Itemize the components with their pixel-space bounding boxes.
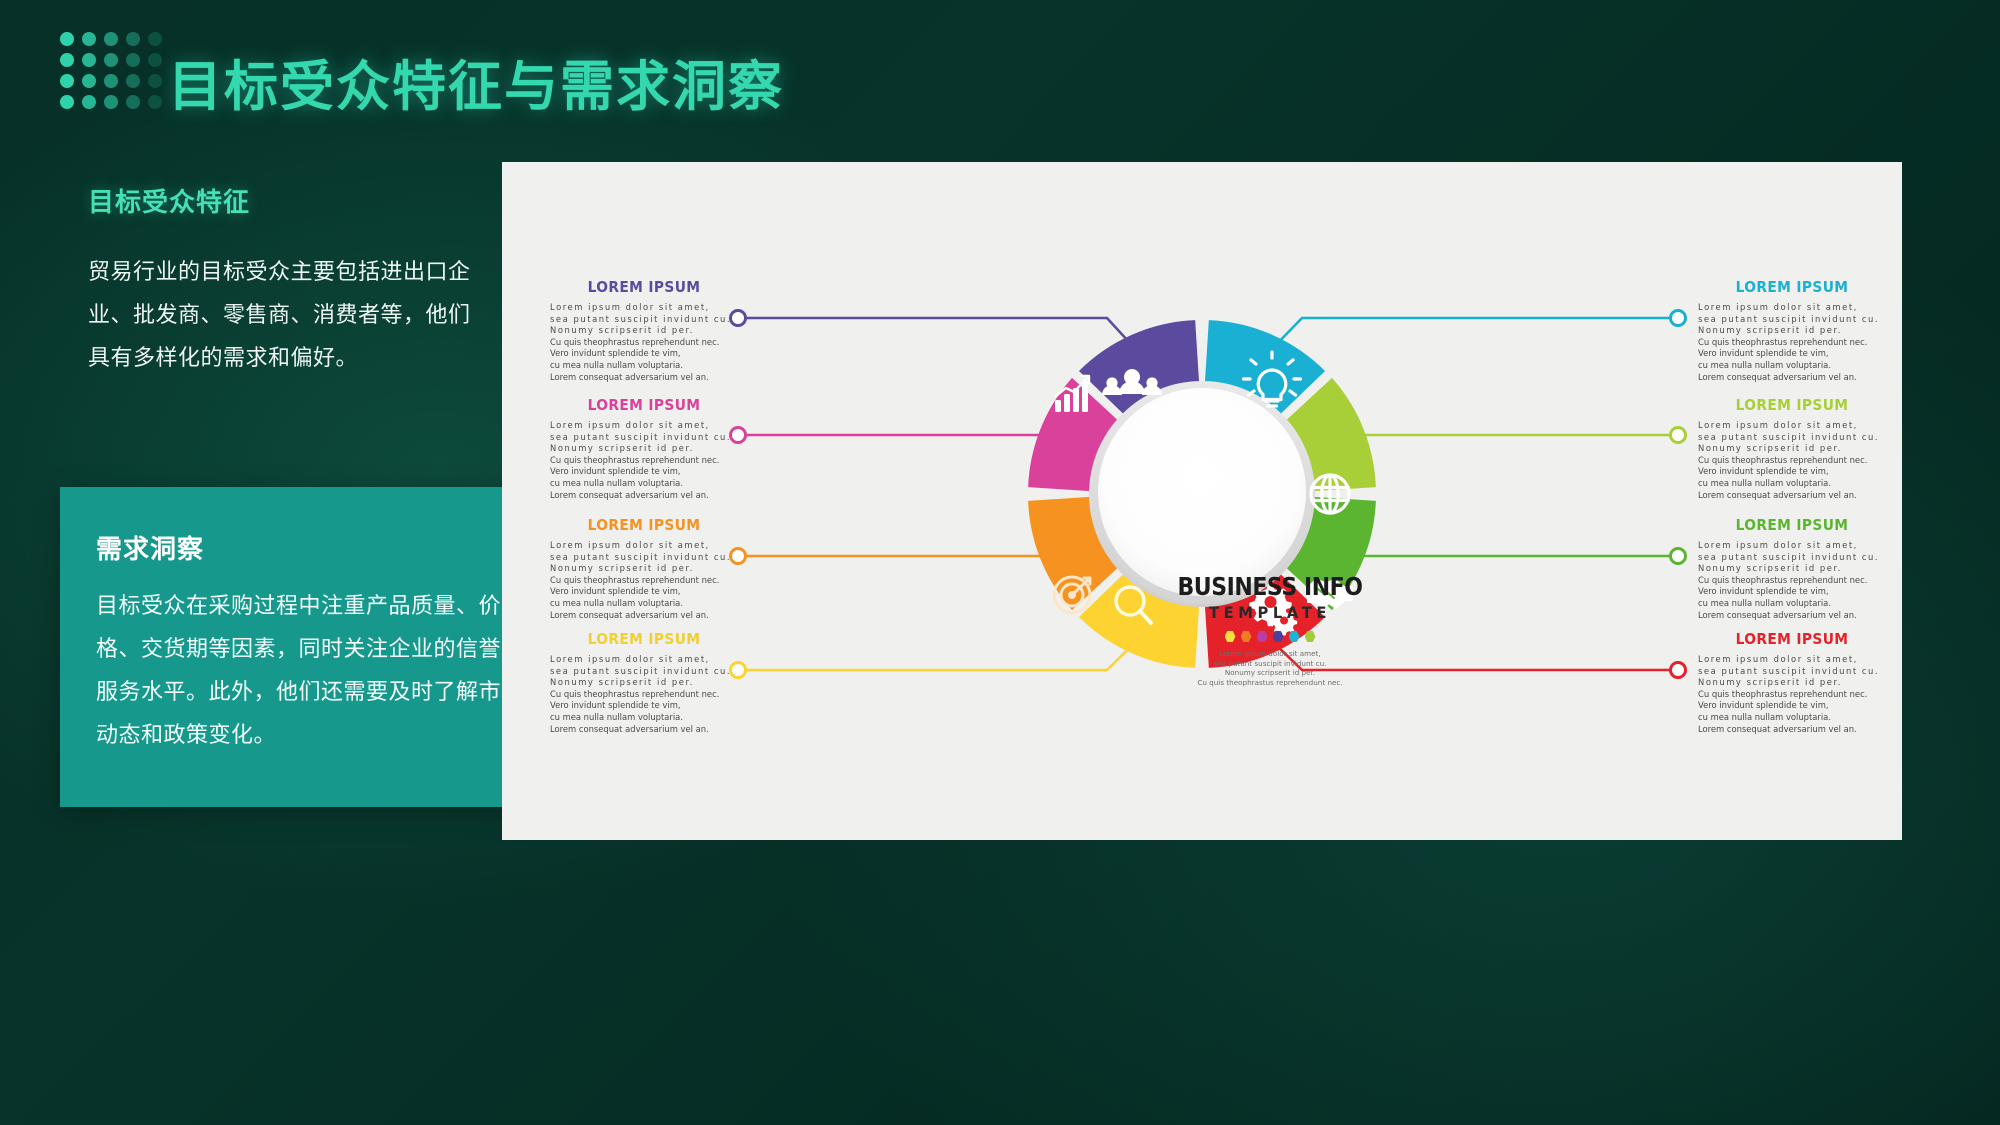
lorem-line: cu mea nulla nullam voluptaria.: [1698, 598, 1886, 610]
lorem-line: Lorem consequat adversarium vel an.: [550, 610, 738, 622]
lorem-line: Lorem consequat adversarium vel an.: [1698, 610, 1886, 622]
lorem-line: Cu quis theophrastus reprehendunt nec.: [1698, 689, 1886, 701]
label-gears: LOREM IPSUM Lorem ipsum dolor sit amet,s…: [1698, 630, 1886, 735]
label-body-globe: Lorem ipsum dolor sit amet,sea putant su…: [1698, 420, 1886, 501]
center-disc: [1098, 388, 1306, 596]
lorem-line: Lorem consequat adversarium vel an.: [1698, 490, 1886, 502]
lorem-line: Cu quis theophrastus reprehendunt nec.: [550, 455, 738, 467]
lorem-line: Lorem ipsum dolor sit amet,: [1698, 420, 1886, 432]
label-body-chart: Lorem ipsum dolor sit amet,sea putant su…: [550, 420, 738, 501]
label-body-bulb: Lorem ipsum dolor sit amet,sea putant su…: [1698, 302, 1886, 383]
lorem-line: Lorem ipsum dolor sit amet,: [550, 654, 738, 666]
label-body-target: Lorem ipsum dolor sit amet,sea putant su…: [550, 540, 738, 621]
label-title-people: LOREM IPSUM: [558, 278, 731, 296]
lorem-line: Lorem consequat adversarium vel an.: [550, 372, 738, 384]
label-search: LOREM IPSUM Lorem ipsum dolor sit amet,s…: [550, 630, 738, 735]
lorem-line: Nonumy scripserit id per.: [1698, 443, 1886, 455]
page-title: 目标受众特征与需求洞察: [168, 42, 784, 121]
lorem-line: Vero invidunt splendide te vim,: [550, 586, 738, 598]
lorem-line: Cu quis theophrastus reprehendunt nec.: [550, 337, 738, 349]
lorem-line: Nonumy scripserit id per.: [1698, 325, 1886, 337]
connector-node-globe: [1671, 428, 1686, 443]
lorem-line: cu mea nulla nullam voluptaria.: [550, 478, 738, 490]
lorem-line: sea putant suscipit invidunt cu.: [1698, 666, 1886, 678]
label-bulb: LOREM IPSUM Lorem ipsum dolor sit amet,s…: [1698, 278, 1886, 383]
lorem-line: Nonumy scripserit id per.: [550, 677, 738, 689]
infographic-panel: LOREM IPSUM Lorem ipsum dolor sit amet,s…: [502, 162, 1902, 840]
section-body-audience-traits: 贸易行业的目标受众主要包括进出口企业、批发商、零售商、消费者等，他们具有多样化的…: [88, 251, 488, 380]
lorem-line: Cu quis theophrastus reprehendunt nec.: [1698, 337, 1886, 349]
lorem-line: sea putant suscipit invidunt cu.: [550, 432, 738, 444]
lorem-line: Vero invidunt splendide te vim,: [1698, 466, 1886, 478]
label-title-search: LOREM IPSUM: [558, 630, 731, 648]
label-body-handshake: Lorem ipsum dolor sit amet,sea putant su…: [1698, 540, 1886, 621]
lorem-line: Cu quis theophrastus reprehendunt nec.: [550, 575, 738, 587]
section-body-demand-insight: 目标受众在采购过程中注重产品质量、价格、交货期等因素，同时关注企业的信誉和服务水…: [96, 585, 538, 757]
lorem-line: cu mea nulla nullam voluptaria.: [550, 598, 738, 610]
label-title-gears: LOREM IPSUM: [1706, 630, 1879, 648]
lorem-line: cu mea nulla nullam voluptaria.: [1698, 360, 1886, 372]
lorem-line: Nonumy scripserit id per.: [550, 325, 738, 337]
lorem-line: Lorem ipsum dolor sit amet,: [550, 540, 738, 552]
lorem-line: Vero invidunt splendide te vim,: [550, 700, 738, 712]
label-chart: LOREM IPSUM Lorem ipsum dolor sit amet,s…: [550, 396, 738, 501]
lorem-line: Cu quis theophrastus reprehendunt nec.: [550, 689, 738, 701]
lorem-line: sea putant suscipit invidunt cu.: [1698, 314, 1886, 326]
lorem-line: Lorem ipsum dolor sit amet,: [1698, 654, 1886, 666]
lorem-line: Nonumy scripserit id per.: [550, 563, 738, 575]
label-title-chart: LOREM IPSUM: [558, 396, 731, 414]
label-title-globe: LOREM IPSUM: [1706, 396, 1879, 414]
lorem-line: Cu quis theophrastus reprehendunt nec.: [1698, 575, 1886, 587]
lorem-line: cu mea nulla nullam voluptaria.: [550, 360, 738, 372]
section-demand-insight: 需求洞察 目标受众在采购过程中注重产品质量、价格、交货期等因素，同时关注企业的信…: [60, 487, 572, 807]
label-body-search: Lorem ipsum dolor sit amet,sea putant su…: [550, 654, 738, 735]
label-people: LOREM IPSUM Lorem ipsum dolor sit amet,s…: [550, 278, 738, 383]
lorem-line: sea putant suscipit invidunt cu.: [550, 666, 738, 678]
label-body-gears: Lorem ipsum dolor sit amet,sea putant su…: [1698, 654, 1886, 735]
lorem-line: cu mea nulla nullam voluptaria.: [550, 712, 738, 724]
lorem-line: Vero invidunt splendide te vim,: [550, 348, 738, 360]
lorem-line: Lorem consequat adversarium vel an.: [1698, 724, 1886, 736]
label-body-people: Lorem ipsum dolor sit amet,sea putant su…: [550, 302, 738, 383]
lorem-line: Vero invidunt splendide te vim,: [1698, 700, 1886, 712]
section-heading-audience-traits: 目标受众特征: [88, 182, 488, 219]
section-heading-demand-insight: 需求洞察: [96, 529, 204, 566]
connector-node-bulb: [1671, 311, 1686, 326]
label-target: LOREM IPSUM Lorem ipsum dolor sit amet,s…: [550, 516, 738, 621]
section-audience-traits: 目标受众特征 贸易行业的目标受众主要包括进出口企业、批发商、零售商、消费者等，他…: [88, 182, 488, 380]
lorem-line: Nonumy scripserit id per.: [1698, 563, 1886, 575]
lorem-line: Nonumy scripserit id per.: [1698, 677, 1886, 689]
lorem-line: Lorem consequat adversarium vel an.: [1698, 372, 1886, 384]
lorem-line: Lorem ipsum dolor sit amet,: [550, 302, 738, 314]
lorem-line: sea putant suscipit invidunt cu.: [550, 552, 738, 564]
slide-canvas: 目标受众特征与需求洞察 目标受众特征 贸易行业的目标受众主要包括进出口企业、批发…: [0, 0, 2000, 1125]
connector-node-handshake: [1671, 549, 1686, 564]
lorem-line: Nonumy scripserit id per.: [550, 443, 738, 455]
label-globe: LOREM IPSUM Lorem ipsum dolor sit amet,s…: [1698, 396, 1886, 501]
lorem-line: cu mea nulla nullam voluptaria.: [1698, 478, 1886, 490]
lorem-line: Cu quis theophrastus reprehendunt nec.: [1698, 455, 1886, 467]
connector-node-gears: [1671, 663, 1686, 678]
lorem-line: Lorem consequat adversarium vel an.: [550, 490, 738, 502]
lorem-line: Lorem ipsum dolor sit amet,: [550, 420, 738, 432]
lorem-line: sea putant suscipit invidunt cu.: [550, 314, 738, 326]
lorem-line: sea putant suscipit invidunt cu.: [1698, 432, 1886, 444]
lorem-line: sea putant suscipit invidunt cu.: [1698, 552, 1886, 564]
lorem-line: Lorem ipsum dolor sit amet,: [1698, 302, 1886, 314]
label-title-handshake: LOREM IPSUM: [1706, 516, 1879, 534]
decorative-dot-grid: [60, 32, 170, 116]
label-title-bulb: LOREM IPSUM: [1706, 278, 1879, 296]
lorem-line: Vero invidunt splendide te vim,: [550, 466, 738, 478]
lorem-line: Lorem consequat adversarium vel an.: [550, 724, 738, 736]
lorem-line: Vero invidunt splendide te vim,: [1698, 348, 1886, 360]
lorem-line: cu mea nulla nullam voluptaria.: [1698, 712, 1886, 724]
label-title-target: LOREM IPSUM: [558, 516, 731, 534]
lorem-line: Lorem ipsum dolor sit amet,: [1698, 540, 1886, 552]
lorem-line: Vero invidunt splendide te vim,: [1698, 586, 1886, 598]
globe-icon: [1311, 475, 1349, 513]
label-handshake: LOREM IPSUM Lorem ipsum dolor sit amet,s…: [1698, 516, 1886, 621]
